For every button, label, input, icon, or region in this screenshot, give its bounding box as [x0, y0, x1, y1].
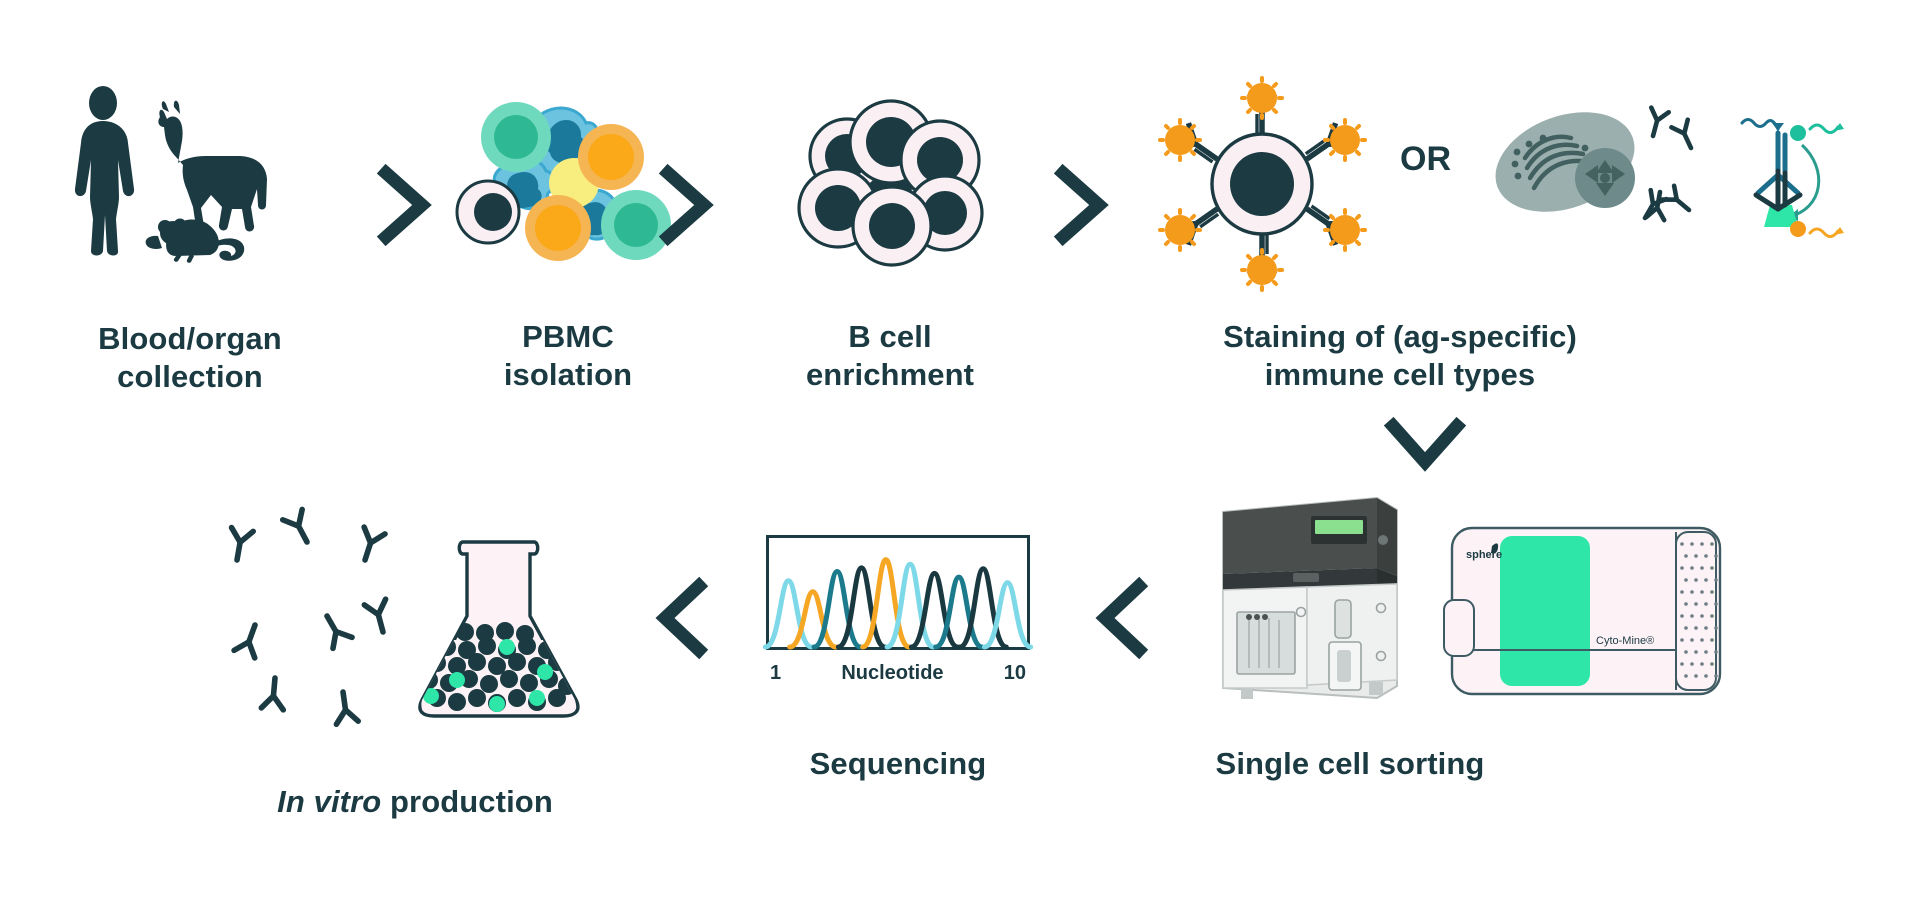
free-antibodies — [226, 509, 393, 724]
b-cell-cluster-icon — [795, 98, 985, 263]
connector-chevron-2 — [660, 165, 716, 245]
fluorescence-assay-icon — [1740, 105, 1880, 245]
caption-sequencing: Sequencing — [718, 745, 1078, 783]
human-silhouette-icon — [75, 86, 134, 256]
b-cell-pale — [457, 181, 519, 243]
caption-blood-organ-collection: Blood/organ collection — [40, 320, 340, 396]
chevron-right-icon — [378, 165, 434, 245]
connector-chevron-3 — [1055, 165, 1111, 245]
green-panel — [1500, 536, 1590, 686]
secreted-antibodies — [1637, 108, 1699, 223]
alpaca-silhouette-icon — [158, 101, 267, 232]
chevron-right-icon — [660, 165, 716, 245]
workflow-diagram: Blood/organ collection — [0, 0, 1920, 901]
step-cell-sorter-icon — [1205, 490, 1405, 710]
mixed-pbmc-cluster-icon — [448, 95, 688, 280]
chromatogram-icon — [766, 535, 1030, 665]
b-cell-nucleus — [1230, 152, 1294, 216]
x-tick-first: 1 — [770, 662, 781, 685]
caption-italic-part: In vitro — [277, 784, 381, 819]
device-model-label: Cyto-Mine® — [1596, 635, 1654, 647]
step-b-cell-enrichment-icon — [795, 98, 985, 263]
flask-contents — [415, 622, 585, 720]
green-fluorophore — [1790, 125, 1806, 141]
lcd-screen — [1315, 520, 1363, 534]
x-axis-label: Nucleotide — [841, 662, 943, 685]
excitation-wave — [1742, 120, 1784, 132]
step-staining-icon — [1155, 80, 1370, 285]
orange-fluorophore — [1790, 221, 1806, 237]
step-sequencing-icon — [766, 535, 1030, 665]
cyto-mine-device-icon: sphere Cyto-Mine® — [1448, 522, 1728, 702]
stained-b-cell-icon — [1155, 80, 1370, 285]
step-in-vitro-production-icon — [215, 520, 605, 720]
caption-pbmc-isolation: PBMC isolation — [418, 318, 718, 394]
sort-chamber-window — [1237, 612, 1295, 674]
caption-b-cell-enrichment: B cell enrichment — [740, 318, 1040, 394]
emission-wave — [1810, 123, 1844, 133]
orange-emission-wave — [1810, 227, 1844, 237]
chromatogram-axis: 1 Nucleotide 10 — [770, 662, 1026, 685]
chevron-left-icon — [1095, 578, 1151, 658]
connector-chevron-5 — [655, 578, 711, 658]
cyto-mine-instrument-icon: sphere Cyto-Mine® — [1448, 522, 1728, 702]
chevron-right-icon — [1055, 165, 1111, 245]
mouse-silhouette-icon — [146, 219, 245, 263]
transfer-arrow — [1788, 145, 1819, 217]
caption-regular-part: production — [390, 784, 553, 819]
x-tick-last: 10 — [1004, 662, 1026, 685]
caption-in-vitro-production: In vitro production — [190, 745, 640, 821]
step-blood-organ-collection-icon — [70, 85, 300, 260]
caption-single-cell-sorting: Single cell sorting — [1150, 745, 1550, 783]
chevron-left-icon — [655, 578, 711, 658]
or-label: OR — [1400, 140, 1451, 179]
connector-chevron-down — [1385, 418, 1465, 474]
connector-chevron-4 — [1095, 578, 1151, 658]
erlenmeyer-flask-icon — [215, 520, 605, 720]
caption-staining: Staining of (ag-specific) immune cell ty… — [1100, 318, 1700, 394]
connector-chevron-1 — [378, 165, 434, 245]
step-pbmc-isolation-icon — [448, 95, 688, 280]
cell-sorter-instrument-icon — [1205, 490, 1405, 710]
plasma-cell-secretion-icon — [1485, 100, 1705, 240]
animal-silhouettes-icon — [70, 85, 300, 260]
fret-assay-icon — [1740, 105, 1880, 245]
chevron-down-icon — [1385, 418, 1465, 474]
plasma-cell-icon — [1485, 100, 1705, 240]
